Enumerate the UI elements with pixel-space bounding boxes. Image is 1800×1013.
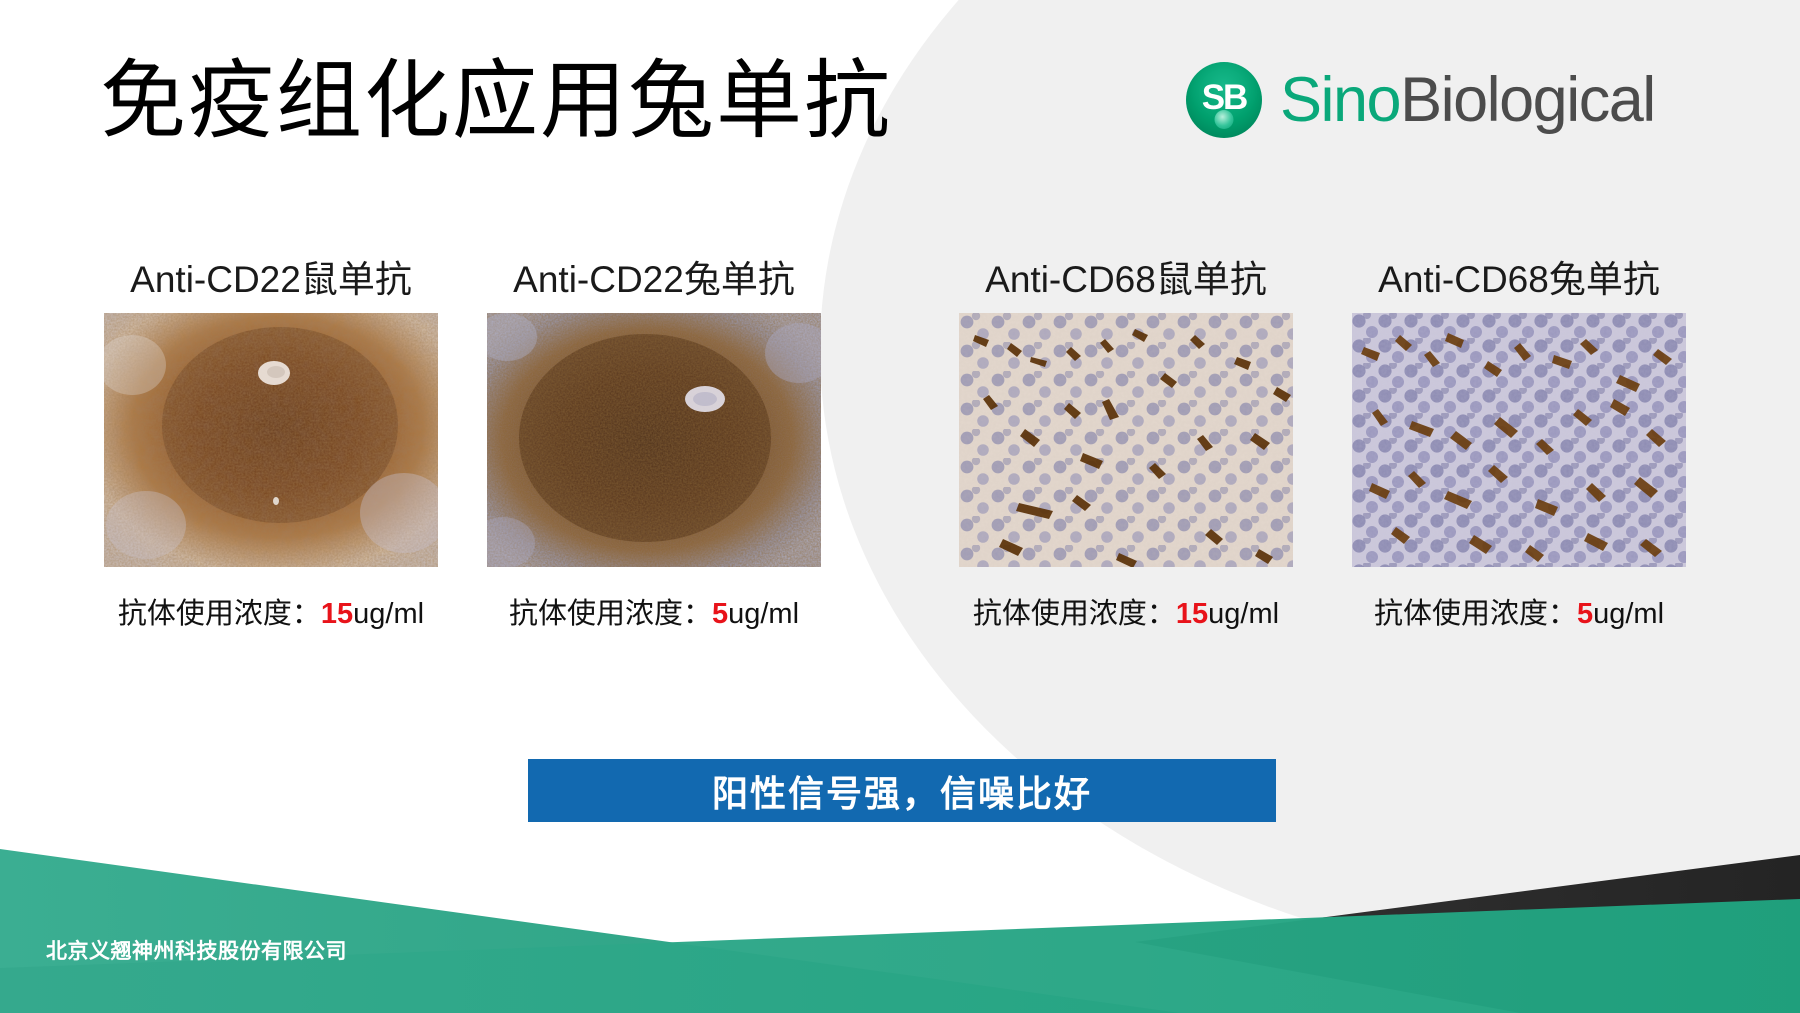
caption-label-3: 抗体使用浓度： [973, 598, 1176, 630]
concentration-value-4: 5 [1577, 598, 1593, 630]
teal-wedge-upper [0, 849, 1180, 1013]
panel-cd68-mouse: Anti-CD68鼠单抗 [959, 258, 1293, 632]
caption-label-1: 抗体使用浓度： [118, 598, 321, 630]
caption-label-2: 抗体使用浓度： [509, 598, 712, 630]
concentration-unit-4: ug/ml [1593, 598, 1664, 630]
logo-wordmark: SinoBiological [1280, 69, 1655, 132]
sb-logo-icon: SB [1186, 62, 1262, 138]
caption-label-4: 抗体使用浓度： [1374, 598, 1577, 630]
caption-2: 抗体使用浓度：5ug/ml [487, 590, 821, 632]
panel-title-2: Anti-CD22兔单抗 [487, 258, 821, 302]
banner-text: 阳性信号强，信噪比好 [712, 765, 1092, 817]
slide-canvas: 免疫组化应用兔单抗 SB SinoBiological Anti-CD22鼠单抗 [0, 0, 1800, 1013]
page-title: 免疫组化应用兔单抗 [100, 53, 892, 149]
footer-company-name: 北京义翘神州科技股份有限公司 [46, 935, 347, 965]
panel-cd68-rabbit: Anti-CD68兔单抗 [1352, 258, 1686, 632]
caption-4: 抗体使用浓度：5ug/ml [1352, 590, 1686, 632]
concentration-value-2: 5 [712, 598, 728, 630]
sb-monogram: SB [1202, 78, 1247, 118]
ihc-image-cd22-rabbit [487, 313, 821, 567]
panel-title-1: Anti-CD22鼠单抗 [104, 258, 438, 302]
panel-cd22-rabbit: Anti-CD22兔单抗 [487, 258, 821, 632]
conclusion-banner: 阳性信号强，信噪比好 [528, 759, 1276, 822]
panel-title-3: Anti-CD68鼠单抗 [959, 258, 1293, 302]
caption-3: 抗体使用浓度：15ug/ml [959, 590, 1293, 632]
concentration-unit-2: ug/ml [728, 598, 799, 630]
concentration-value-1: 15 [321, 598, 353, 630]
logo-word-biological: Biological [1400, 65, 1655, 135]
ihc-image-cd68-mouse [959, 313, 1293, 567]
ihc-image-cd68-rabbit [1352, 313, 1686, 567]
caption-1: 抗体使用浓度：15ug/ml [104, 590, 438, 632]
concentration-value-3: 15 [1176, 598, 1208, 630]
ihc-image-cd22-mouse [104, 313, 438, 567]
logo-word-sino: Sino [1280, 65, 1400, 135]
concentration-unit-1: ug/ml [353, 598, 424, 630]
panel-title-4: Anti-CD68兔单抗 [1352, 258, 1686, 302]
sino-biological-logo: SB SinoBiological [1186, 62, 1655, 138]
panel-cd22-mouse: Anti-CD22鼠单抗 [104, 258, 438, 632]
concentration-unit-3: ug/ml [1208, 598, 1279, 630]
